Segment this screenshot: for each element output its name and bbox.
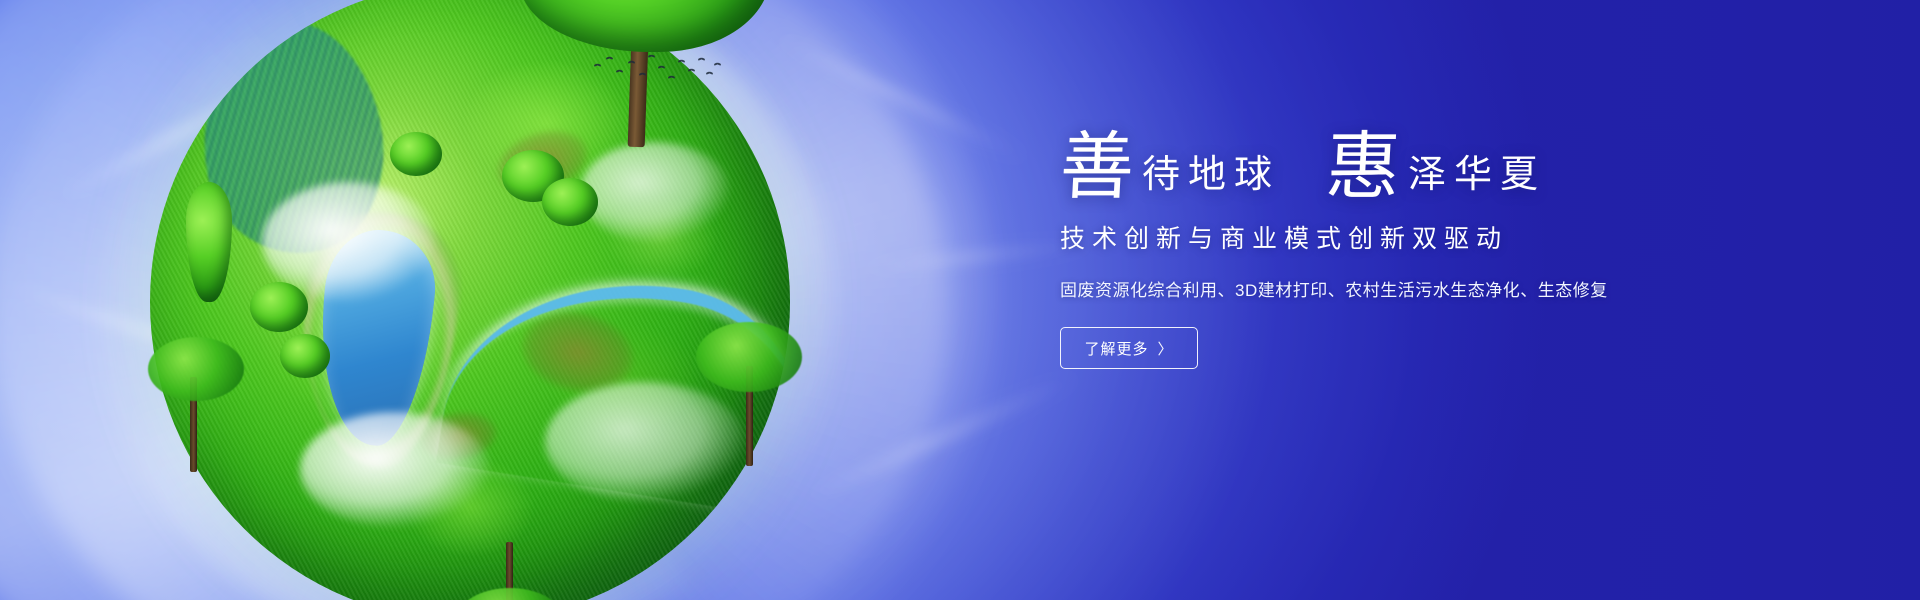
description-text: 固废资源化综合利用、3D建材打印、农村生活污水生态净化、生态修复	[1060, 276, 1760, 301]
globe-cloud	[300, 412, 490, 527]
bush-clump	[390, 132, 442, 176]
learn-more-button[interactable]: 了解更多 〉	[1060, 327, 1198, 369]
tree-canopy	[520, 0, 770, 52]
edge-tree	[450, 542, 570, 600]
edge-tree	[690, 322, 810, 472]
bird-flock-icon	[592, 52, 722, 86]
headline-small-text-2: 泽华夏	[1408, 155, 1546, 203]
headline-small-text-1: 待地球	[1142, 155, 1280, 203]
subheadline: 技术创新与商业模式创新双驱动	[1060, 219, 1760, 255]
bush-clump	[280, 334, 330, 378]
chevron-right-icon: 〉	[1158, 338, 1174, 359]
bush-clump	[250, 282, 308, 332]
edge-tree	[140, 337, 250, 477]
page-title: 善 待地球 惠 泽华夏	[1060, 132, 1760, 203]
bush-clump	[542, 178, 598, 226]
headline-big-char-2: 惠	[1324, 132, 1402, 203]
globe-cloud	[580, 142, 730, 242]
banner-content: 善 待地球 惠 泽华夏 技术创新与商业模式创新双驱动 固废资源化综合利用、3D建…	[1060, 132, 1760, 369]
headline-big-char-1: 善	[1058, 132, 1136, 203]
hero-banner: 善 待地球 惠 泽华夏 技术创新与商业模式创新双驱动 固废资源化综合利用、3D建…	[0, 0, 1920, 600]
learn-more-label: 了解更多	[1084, 338, 1148, 359]
green-earth-globe	[150, 0, 790, 600]
